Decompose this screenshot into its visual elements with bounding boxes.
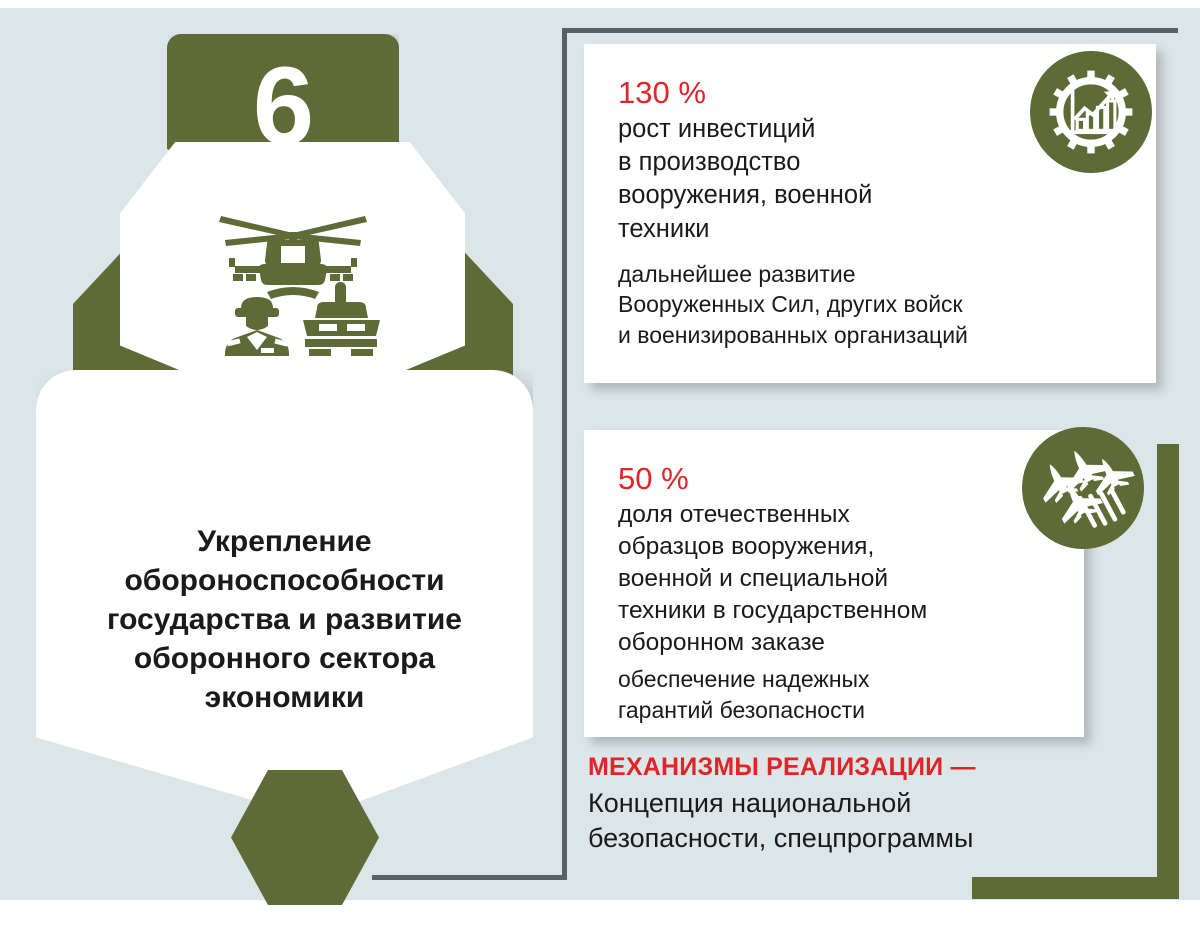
- mechanisms-line: Концепция национальной: [588, 786, 1148, 821]
- frame-line-top: [562, 28, 1178, 33]
- sub-line: Вооруженных Сил, других войск: [618, 289, 1122, 320]
- title-line: Укрепление: [55, 522, 515, 561]
- sub-line: и военизированных организаций: [618, 320, 1122, 351]
- stat-line: доля отечественных: [618, 499, 1050, 531]
- mechanisms-block: МЕХАНИЗМЫ РЕАЛИЗАЦИИ — Концепция национа…: [588, 752, 1148, 856]
- stat-line: оборонном заказе: [618, 627, 1050, 659]
- sub-line: гарантий безопасности: [618, 695, 1050, 726]
- title-line: оборонного сектора: [55, 639, 515, 678]
- mechanisms-title: МЕХАНИЗМЫ РЕАЛИЗАЦИИ —: [588, 752, 1148, 783]
- frame-line-left: [562, 28, 567, 880]
- stat-line: вооружения, военной: [618, 179, 1122, 212]
- title-line: экономики: [55, 678, 515, 717]
- mechanisms-body: Концепция национальной безопасности, спе…: [588, 786, 1148, 856]
- title-line: обороноспособности: [55, 561, 515, 600]
- stat-card-body: 50 % доля отечественных образцов вооруже…: [584, 430, 1084, 726]
- military-forces-icon: [205, 196, 380, 356]
- title-line: государства и развитие: [55, 600, 515, 639]
- stat-line: образцов вооружения,: [618, 531, 1050, 563]
- section-title: Укрепление обороноспособности государств…: [55, 522, 515, 717]
- stat-subtext: дальнейшее развитие Вооруженных Сил, дру…: [618, 259, 1122, 351]
- stat-line: техники в государственном: [618, 595, 1050, 627]
- stat-percent: 50 %: [618, 460, 1050, 497]
- olive-bracket-horizontal: [972, 877, 1179, 899]
- sub-line: обеспечение надежных: [618, 664, 1050, 695]
- mechanisms-line: безопасности, спецпрограммы: [588, 821, 1148, 856]
- left-panel: 6: [28, 20, 548, 880]
- infographic-slide: 6: [0, 0, 1200, 944]
- stat-subtext: обеспечение надежных гарантий безопаснос…: [618, 664, 1050, 725]
- gear-growth-chart-icon-badge: [1030, 51, 1152, 173]
- gear-growth-chart-icon: [1045, 66, 1137, 158]
- stat-card-domestic-share: 50 % доля отечественных образцов вооруже…: [584, 430, 1084, 737]
- stat-description: доля отечественных образцов вооружения, …: [618, 499, 1050, 658]
- olive-bracket-vertical: [1157, 444, 1179, 899]
- section-title-panel: Укрепление обороноспособности государств…: [36, 370, 533, 818]
- sub-line: дальнейшее развитие: [618, 259, 1122, 290]
- stat-line: военной и специальной: [618, 563, 1050, 595]
- fighter-jets-icon-badge: [1022, 427, 1144, 549]
- stat-line: техники: [618, 213, 1122, 246]
- fighter-jets-icon: [1031, 436, 1135, 540]
